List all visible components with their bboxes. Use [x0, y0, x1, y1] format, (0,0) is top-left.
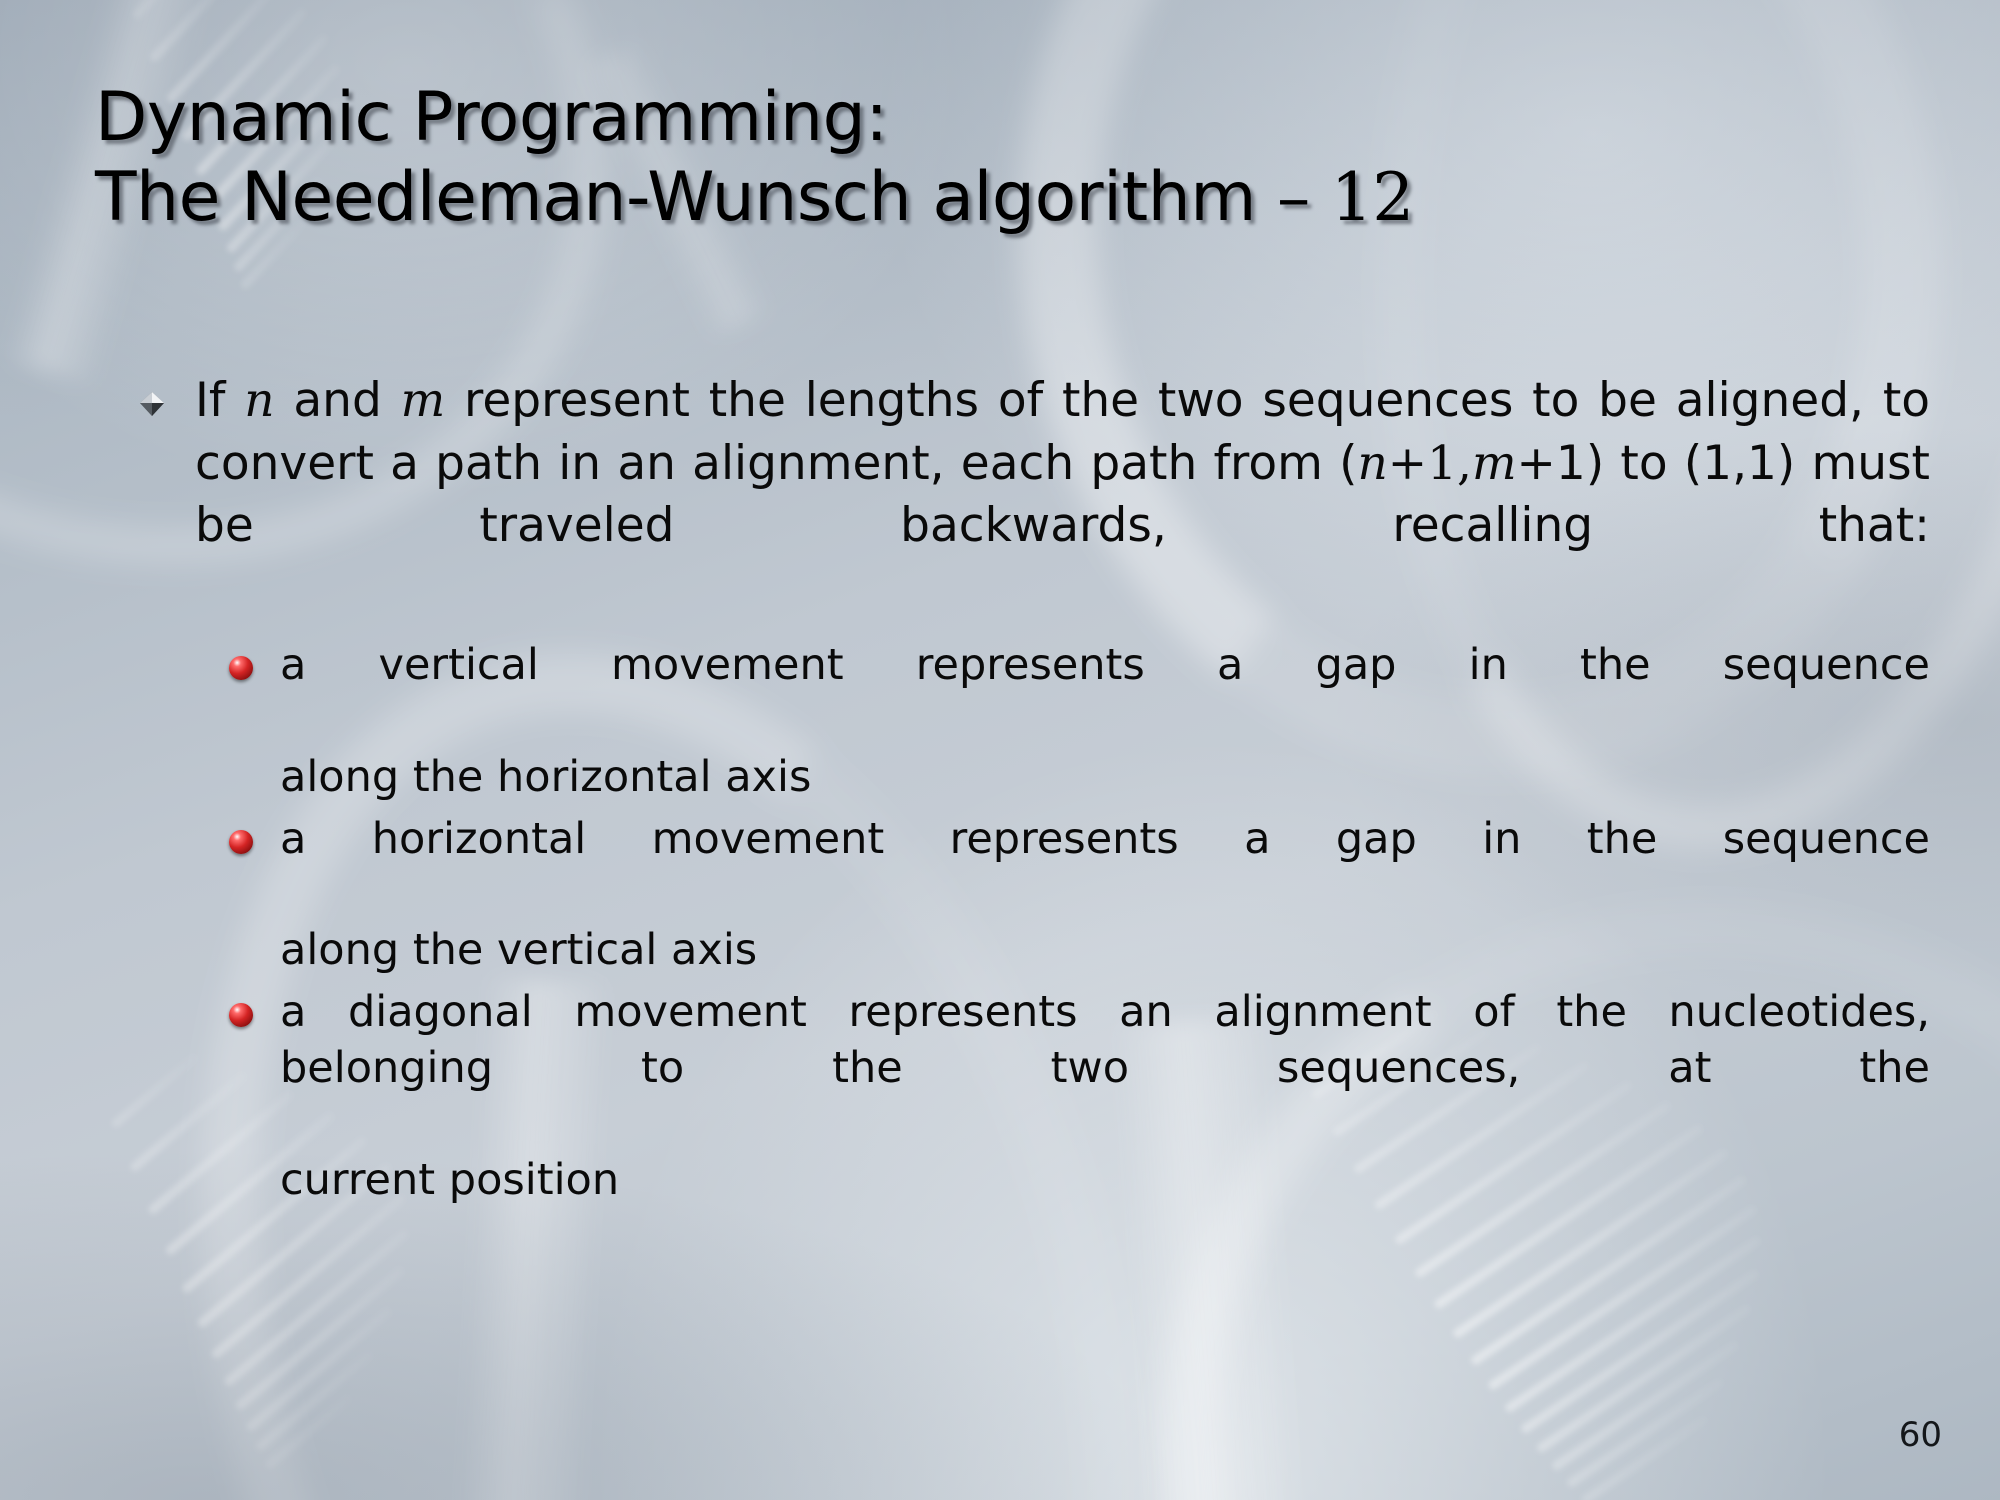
main-bullet-item: If n and m represent the lengths of the …: [130, 370, 1930, 620]
sub-bullet-3-tail: current position: [280, 1153, 1930, 1209]
sub-bullet-item-2: a horizontal movement represents a gap i…: [225, 812, 1930, 980]
slide-title: Dynamic Programming: The Needleman-Wunsc…: [95, 78, 1925, 238]
red-sphere-bullet-icon: [229, 1003, 253, 1027]
sub-bullet-item-3: a diagonal movement represents an alignm…: [225, 985, 1930, 1209]
main-bullet-text: If n and m represent the lengths of the …: [195, 370, 1930, 620]
page-number: 60: [1899, 1415, 1942, 1455]
sub-bullet-1-text: a vertical movement represents a gap in …: [280, 638, 1930, 750]
sub-bullet-1-tail: along the horizontal axis: [280, 750, 1930, 806]
slide-body: If n and m represent the lengths of the …: [130, 370, 1930, 1215]
title-dash: [1256, 158, 1277, 237]
main-bullet-seg-2: and: [275, 373, 401, 428]
title-line-2-text: The Needleman-Wunsch algorithm: [95, 158, 1256, 237]
slide-content: Dynamic Programming: The Needleman-Wunsc…: [0, 0, 2000, 1500]
presentation-slide: Dynamic Programming: The Needleman-Wunsc…: [0, 0, 2000, 1500]
main-bullet-seg-4: +1,: [1388, 436, 1472, 491]
sub-bullet-list: a vertical movement represents a gap in …: [130, 638, 1930, 1209]
title-spacer: [1310, 158, 1331, 237]
red-sphere-bullet-icon: [229, 830, 253, 854]
red-sphere-bullet-icon: [229, 656, 253, 680]
variable-m: m: [401, 373, 446, 428]
title-line-2: The Needleman-Wunsch algorithm – 12: [95, 158, 1925, 238]
title-line-1: Dynamic Programming:: [95, 78, 1925, 158]
sub-bullet-2-text: a horizontal movement represents a gap i…: [280, 812, 1930, 924]
variable-m-2: m: [1472, 436, 1517, 491]
diamond-bullet-icon: [138, 390, 166, 418]
variable-n: n: [244, 373, 274, 428]
title-number: 12: [1331, 159, 1414, 236]
sub-bullet-2-tail: along the vertical axis: [280, 923, 1930, 979]
sub-bullet-item-1: a vertical movement represents a gap in …: [225, 638, 1930, 806]
main-bullet-seg-1: If: [195, 373, 244, 428]
title-dash-glyph: –: [1277, 159, 1310, 236]
variable-n-2: n: [1357, 436, 1387, 491]
sub-bullet-3-text: a diagonal movement represents an alignm…: [280, 985, 1930, 1153]
